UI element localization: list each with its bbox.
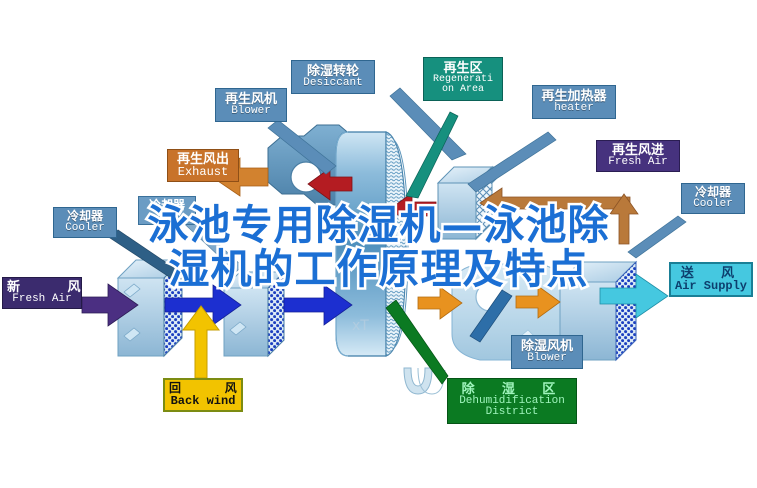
svg-text:xT: xT [352,318,369,334]
label-desiccant-rotor-en: Desiccant [296,78,370,90]
label-regen-blower-en: Blower [220,106,282,118]
label-dehum-blower[interactable]: 除湿风机 Blower [511,335,583,369]
label-desiccant-rotor-cn: 除湿转轮 [296,64,370,78]
label-back-wind[interactable]: 回 风 Back wind [163,378,243,412]
label-regen-fresh-air[interactable]: 再生风进 Fresh Air [596,140,680,172]
label-dehumidification-district[interactable]: 除 湿 区 Dehumidification District [447,378,577,424]
label-regen-fresh-air-en: Fresh Air [601,157,675,169]
label-regen-exhaust-en: Exhaust [172,166,234,179]
label-back-wind-cn: 回 风 [169,382,237,395]
label-regen-fresh-air-cn: 再生风进 [601,143,675,157]
label-fresh-air-in-en: Fresh Air [7,294,77,306]
label-regen-blower-cn: 再生风机 [220,92,282,106]
label-regen-blower[interactable]: 再生风机 Blower [215,88,287,122]
label-back-wind-en: Back wind [169,395,237,408]
label-regeneration-area-cn: 再生区 [427,61,499,75]
label-regeneration-area[interactable]: 再生区 Regenerati on Area [423,57,503,101]
diagram-canvas: xT [0,0,757,488]
label-regen-heater-cn: 再生加热器 [537,89,611,103]
label-desiccant-rotor[interactable]: 除湿转轮 Desiccant [291,60,375,94]
label-dehum-district-en2: District [452,407,572,419]
title-line-1: 泳池专用除湿机—泳池除 [0,203,757,247]
label-regen-heater-en: heater [537,103,611,115]
label-regeneration-area-en2: on Area [427,85,499,96]
label-dehum-district-cn: 除 湿 区 [452,382,572,396]
label-regen-heater[interactable]: 再生加热器 heater [532,85,616,119]
title-overlay: 泳池专用除湿机—泳池除 湿机的工作原理及特点 [0,203,757,291]
label-dehum-blower-en: Blower [516,353,578,365]
label-cooler-right-cn: 冷却器 [686,186,740,199]
title-line-2: 湿机的工作原理及特点 [0,247,757,291]
label-regen-exhaust-cn: 再生风出 [172,152,234,166]
label-regen-exhaust[interactable]: 再生风出 Exhaust [167,149,239,182]
label-dehum-blower-cn: 除湿风机 [516,339,578,353]
